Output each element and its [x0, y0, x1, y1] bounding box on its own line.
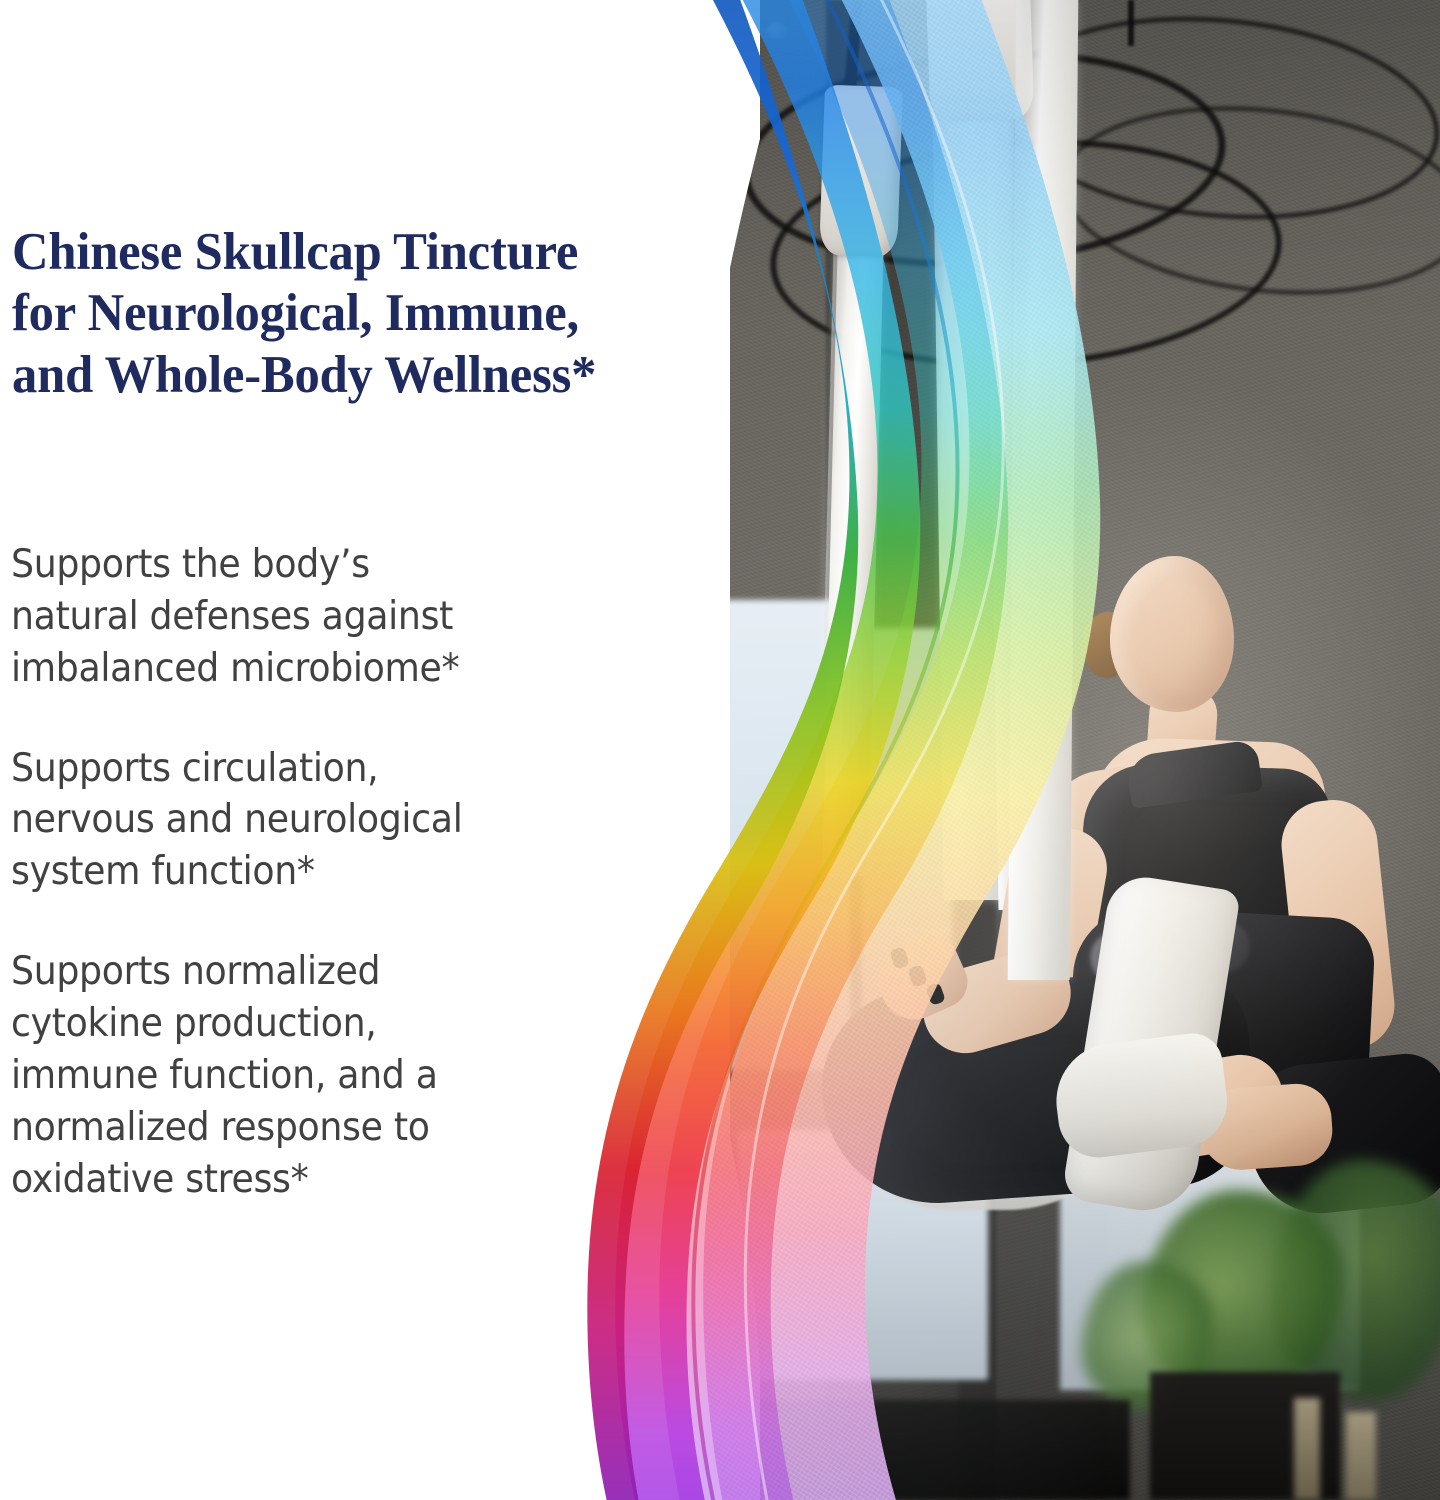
product-marketing-banner: Chinese Skullcap Tincture for Neurologic… — [0, 0, 1440, 1500]
subject-head — [1110, 556, 1234, 712]
aerial-silk-knot — [819, 85, 903, 258]
studio-floor — [730, 1400, 1130, 1500]
candle-group — [1290, 1398, 1410, 1500]
copy-column: Chinese Skullcap Tincture for Neurologic… — [0, 0, 700, 1500]
page-title: Chinese Skullcap Tincture for Neurologic… — [12, 222, 787, 406]
rigging-rod — [1128, 0, 1134, 46]
benefit-list: Supports the body’s natural defenses aga… — [11, 500, 631, 1205]
rigging-knob — [767, 22, 787, 40]
benefit-item-immune-defense: Supports the body’s natural defenses aga… — [11, 539, 588, 695]
benefit-item-cytokine-oxidative: Supports normalized cytokine production,… — [11, 946, 588, 1205]
aerial-yoga-photo — [730, 0, 1440, 1500]
benefit-item-circulation-nervous: Supports circulation, nervous and neurol… — [11, 743, 588, 899]
aerial-silk — [1008, 0, 1079, 980]
